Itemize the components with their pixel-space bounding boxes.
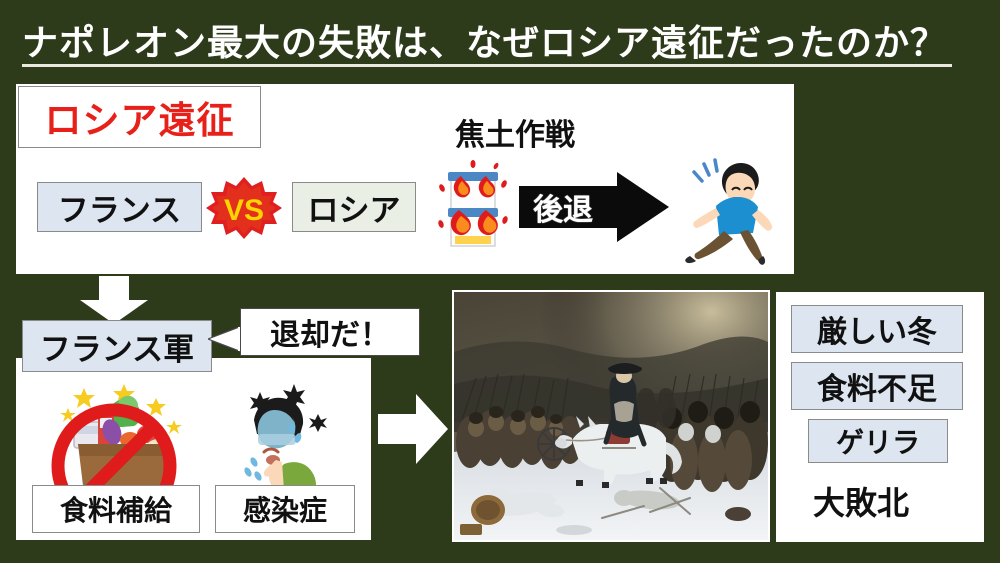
page-title: ナポレオン最大の失敗は、なぜロシア遠征だったのか？ [22,14,947,66]
harsh-winter-box: 厳しい冬 [791,305,963,353]
france-box: フランス [37,182,202,232]
guerilla-box: ゲリラ [808,419,948,463]
speech-bubble-tail-icon [208,326,242,352]
title-underline [22,64,952,67]
retreat-arrow-label: 後退 [533,185,593,229]
napoleon-retreat-painting [452,290,770,542]
retreat-speech-bubble: 退却だ！ [240,308,420,356]
running-person-icon [678,150,782,266]
food-supply-box: 食料補給 [32,485,200,533]
great-defeat-label: 大敗北 [813,478,909,524]
sick-person-icon [232,378,344,498]
burning-building-icon [437,158,509,254]
arrow-down-icon [76,276,152,324]
food-shortage-box: 食料不足 [791,362,963,410]
arrow-right-icon [378,392,448,466]
vs-badge-label: VS [224,194,264,227]
russia-box: ロシア [292,182,416,232]
scorched-earth-label: 焦土作戦 [455,110,575,154]
title-bar: ナポレオン最大の失敗は、なぜロシア遠征だったのか？ [0,6,1000,68]
vs-badge-icon: VS [205,175,283,241]
french-army-box: フランス軍 [22,320,212,372]
russia-campaign-box: ロシア遠征 [18,86,261,148]
infection-box: 感染症 [215,485,355,533]
slide-root: ナポレオン最大の失敗は、なぜロシア遠征だったのか？ ロシア遠征 フランス VS … [0,0,1000,563]
